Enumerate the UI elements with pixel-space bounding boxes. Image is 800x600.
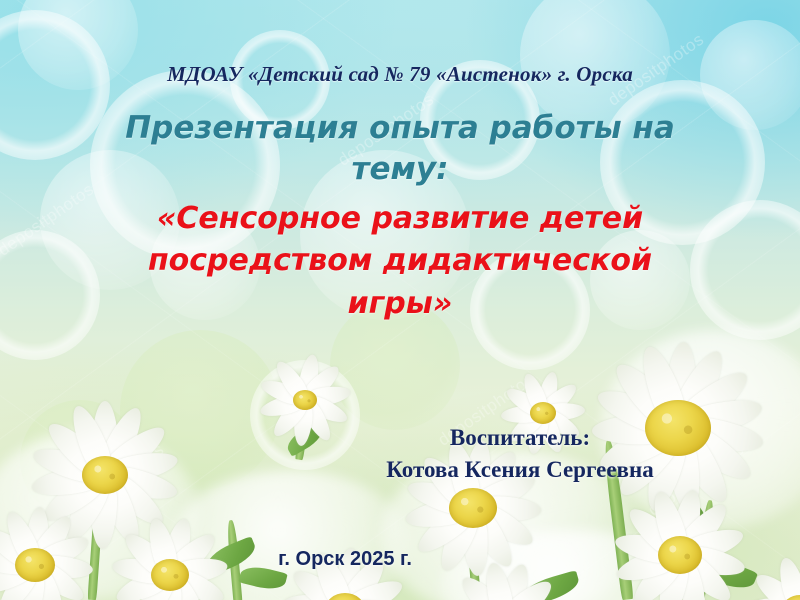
- topic-line-2: посредством дидактической: [88, 240, 712, 283]
- topic-line-3: игры»: [88, 283, 712, 326]
- presentation-title-slide: depositphotos depositphotos depositphoto…: [0, 0, 800, 600]
- city-year-footer: г. Орск 2025 г.: [195, 548, 495, 571]
- author-name: Котова Ксения Сергеевна: [300, 454, 740, 486]
- topic-line-1: «Сенсорное развитие детей: [88, 198, 712, 241]
- presentation-title: Презентация опыта работы на тему:: [88, 108, 712, 190]
- slide-text-layer: МДОАУ «Детский сад № 79 «Аистенок» г. Ор…: [0, 0, 800, 600]
- title-block: Презентация опыта работы на тему: «Сенсо…: [88, 108, 712, 326]
- author-role: Воспитатель:: [300, 422, 740, 454]
- presentation-topic: «Сенсорное развитие детей посредством ди…: [88, 198, 712, 326]
- organization-name: МДОАУ «Детский сад № 79 «Аистенок» г. Ор…: [0, 62, 800, 87]
- author-block: Воспитатель: Котова Ксения Сергеевна: [300, 422, 740, 485]
- title-line-2: тему:: [88, 149, 712, 190]
- title-line-1: Презентация опыта работы на: [88, 108, 712, 149]
